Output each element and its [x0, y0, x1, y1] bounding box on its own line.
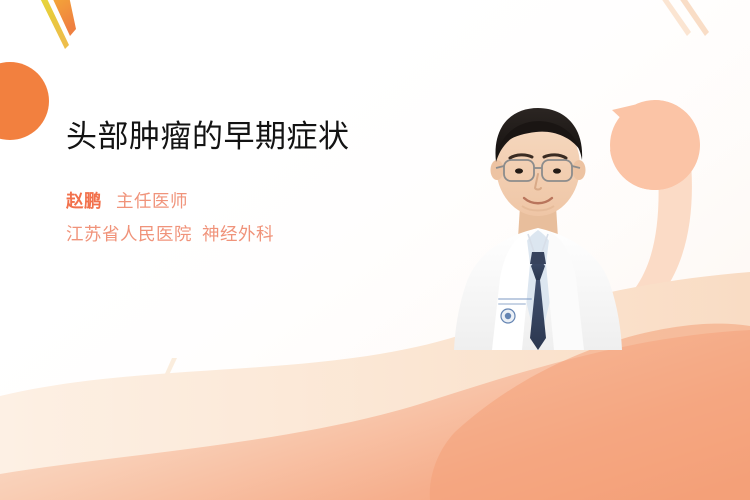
- doctor-credentials: 赵鹏主任医师 江苏省人民医院神经外科: [66, 186, 406, 249]
- card-text-block: 头部肿瘤的早期症状 赵鹏主任医师 江苏省人民医院神经外科: [66, 116, 406, 249]
- doctor-name-line: 赵鹏主任医师: [66, 186, 406, 216]
- doctor-department: 神经外科: [202, 224, 274, 244]
- doctor-portrait-image: [452, 88, 624, 350]
- doctor-hospital: 江苏省人民医院: [66, 224, 192, 244]
- background-decoration: [0, 0, 750, 500]
- doctor-portrait: [452, 88, 624, 350]
- doctor-rank: 主任医师: [116, 191, 188, 211]
- page-title: 头部肿瘤的早期症状: [66, 116, 396, 158]
- doctor-affiliation-line: 江苏省人民医院神经外科: [66, 219, 406, 249]
- doctor-name: 赵鹏: [66, 191, 102, 211]
- doctor-video-card: 头部肿瘤的早期症状 赵鹏主任医师 江苏省人民医院神经外科: [0, 0, 750, 500]
